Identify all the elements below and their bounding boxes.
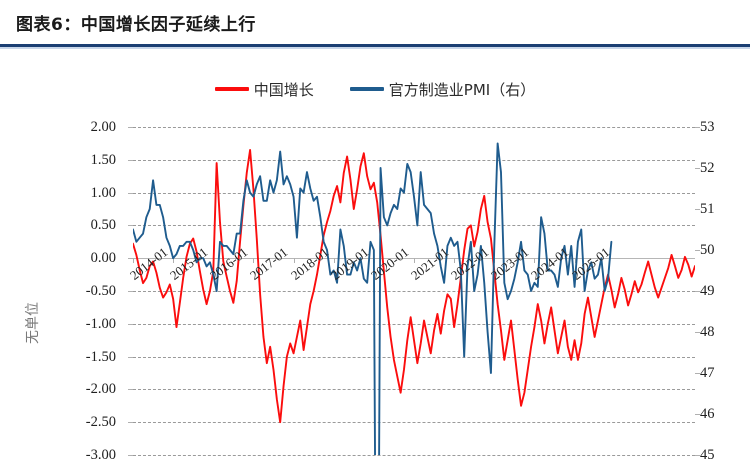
gridline [133, 455, 695, 456]
y-axis-right-tick-label: 53 [700, 120, 730, 135]
title-bar: 图表6：中国增长因子延续上行 [0, 0, 750, 44]
y-axis-left-tick-label: 1.00 [58, 186, 116, 201]
legend-label-china-growth: 中国增长 [254, 79, 314, 100]
y-axis-left-tick-label: 0.00 [58, 251, 116, 266]
grid-area [133, 127, 695, 455]
y-axis-left-tick-label: 0.50 [58, 218, 116, 233]
series-line-official-pmi [133, 143, 611, 466]
chart-plot-area: 无单位 2.001.501.000.500.00-0.50-1.00-1.50-… [0, 104, 750, 466]
y-axis-right-tick-label: 52 [700, 161, 730, 176]
y-tick-mark [695, 209, 700, 210]
y-tick-mark [695, 414, 700, 415]
page-title: 图表6：中国增长因子延续上行 [16, 10, 256, 35]
title-divider-secondary [0, 47, 750, 49]
y-axis-title: 无单位 [22, 302, 42, 344]
y-axis-left-tick-label: -2.00 [58, 382, 116, 397]
legend-label-official-pmi: 官方制造业PMI（右） [389, 79, 535, 100]
y-tick-mark [695, 291, 700, 292]
legend-item-official-pmi[interactable]: 官方制造业PMI（右） [350, 79, 535, 100]
y-tick-mark [695, 250, 700, 251]
y-axis-right-tick-label: 49 [700, 284, 730, 299]
y-axis-right-tick-label: 51 [700, 202, 730, 217]
y-tick-mark [695, 455, 700, 456]
series-canvas [133, 127, 695, 455]
line-swatch-icon [215, 87, 249, 91]
line-swatch-icon [350, 87, 384, 91]
y-axis-left-tick-label: -2.50 [58, 415, 116, 430]
y-axis-right-tick-label: 48 [700, 325, 730, 340]
legend-item-china-growth[interactable]: 中国增长 [215, 79, 314, 100]
y-axis-left-tick-label: 1.50 [58, 153, 116, 168]
y-axis-right-tick-label: 45 [700, 448, 730, 463]
y-tick-mark [695, 332, 700, 333]
y-axis-left-tick-label: -1.00 [58, 317, 116, 332]
y-axis-left-tick-label: -1.50 [58, 350, 116, 365]
y-axis-left-tick-label: -3.00 [58, 448, 116, 463]
y-tick-mark [128, 455, 133, 456]
y-tick-mark [695, 168, 700, 169]
y-axis-right-tick-label: 47 [700, 366, 730, 381]
y-axis-left-tick-label: -0.50 [58, 284, 116, 299]
y-tick-mark [695, 127, 700, 128]
y-axis-left-tick-label: 2.00 [58, 120, 116, 135]
chart-legend: 中国增长 官方制造业PMI（右） [0, 76, 750, 102]
y-axis-right-tick-label: 46 [700, 407, 730, 422]
y-tick-mark [695, 373, 700, 374]
y-axis-right-tick-label: 50 [700, 243, 730, 258]
